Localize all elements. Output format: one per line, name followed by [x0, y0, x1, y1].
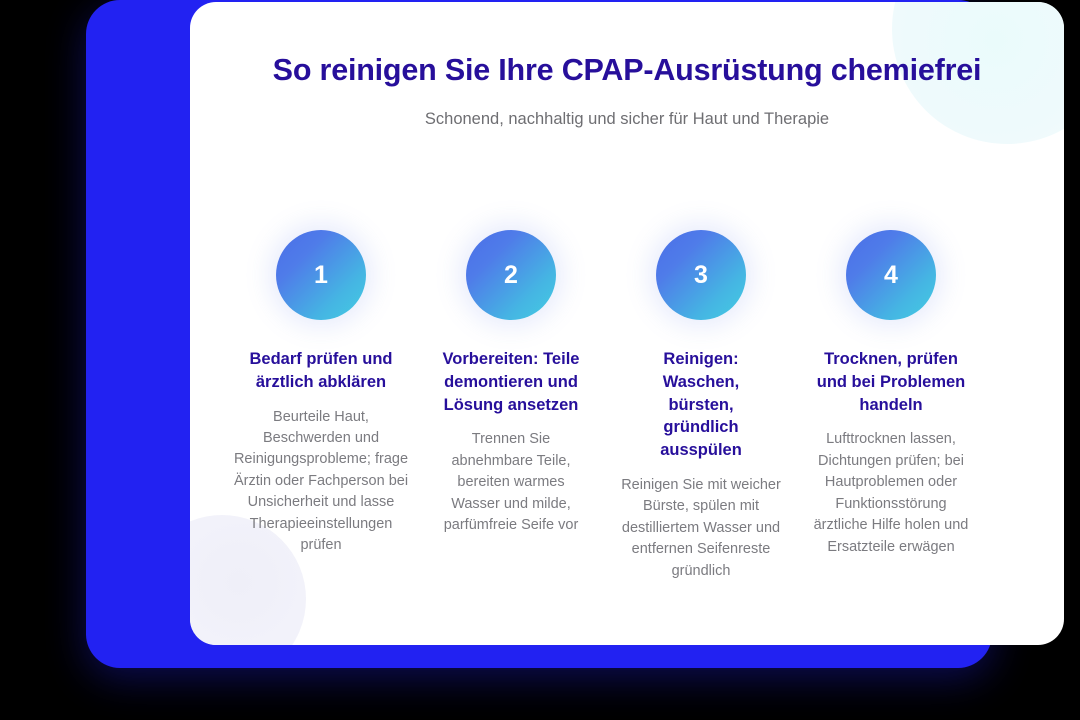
- step-number-badge-2: 2: [466, 230, 556, 320]
- step-number-badge-1: 1: [276, 230, 366, 320]
- step-title-4: Trocknen, prüfen und bei Problemen hande…: [807, 348, 975, 416]
- step-number-4: 4: [884, 261, 898, 290]
- page-title: So reinigen Sie Ihre CPAP-Ausrüstung che…: [190, 52, 1064, 89]
- step-title-3: Reinigen: Waschen, bürsten, gründlich au…: [647, 348, 755, 462]
- step-description-2: Trennen Sie abnehmbare Teile, bereiten w…: [436, 429, 586, 536]
- step-card-3: 3 Reinigen: Waschen, bürsten, gründlich …: [606, 230, 796, 582]
- step-description-1: Beurteile Haut, Beschwerden und Reinigun…: [233, 407, 409, 557]
- step-number-2: 2: [504, 261, 518, 290]
- step-title-2: Vorbereiten: Teile demontieren und Lösun…: [425, 348, 597, 416]
- infographic-frame: So reinigen Sie Ihre CPAP-Ausrüstung che…: [86, 0, 992, 668]
- step-number-1: 1: [314, 261, 328, 290]
- step-number-3: 3: [694, 261, 708, 290]
- step-card-1: 1 Bedarf prüfen und ärztlich abklären Be…: [226, 230, 416, 582]
- step-number-badge-3: 3: [656, 230, 746, 320]
- step-description-4: Lufttrocknen lassen, Dichtungen prüfen; …: [811, 429, 971, 558]
- step-number-badge-4: 4: [846, 230, 936, 320]
- step-card-2: 2 Vorbereiten: Teile demontieren und Lös…: [416, 230, 606, 582]
- infographic-card: So reinigen Sie Ihre CPAP-Ausrüstung che…: [190, 2, 1064, 645]
- page-subtitle: Schonend, nachhaltig und sicher für Haut…: [190, 110, 1064, 129]
- step-card-4: 4 Trocknen, prüfen und bei Problemen han…: [796, 230, 986, 582]
- steps-row: 1 Bedarf prüfen und ärztlich abklären Be…: [190, 230, 1064, 582]
- header: So reinigen Sie Ihre CPAP-Ausrüstung che…: [190, 2, 1064, 129]
- step-title-1: Bedarf prüfen und ärztlich abklären: [236, 348, 406, 394]
- step-description-3: Reinigen Sie mit weicher Bürste, spülen …: [614, 475, 788, 582]
